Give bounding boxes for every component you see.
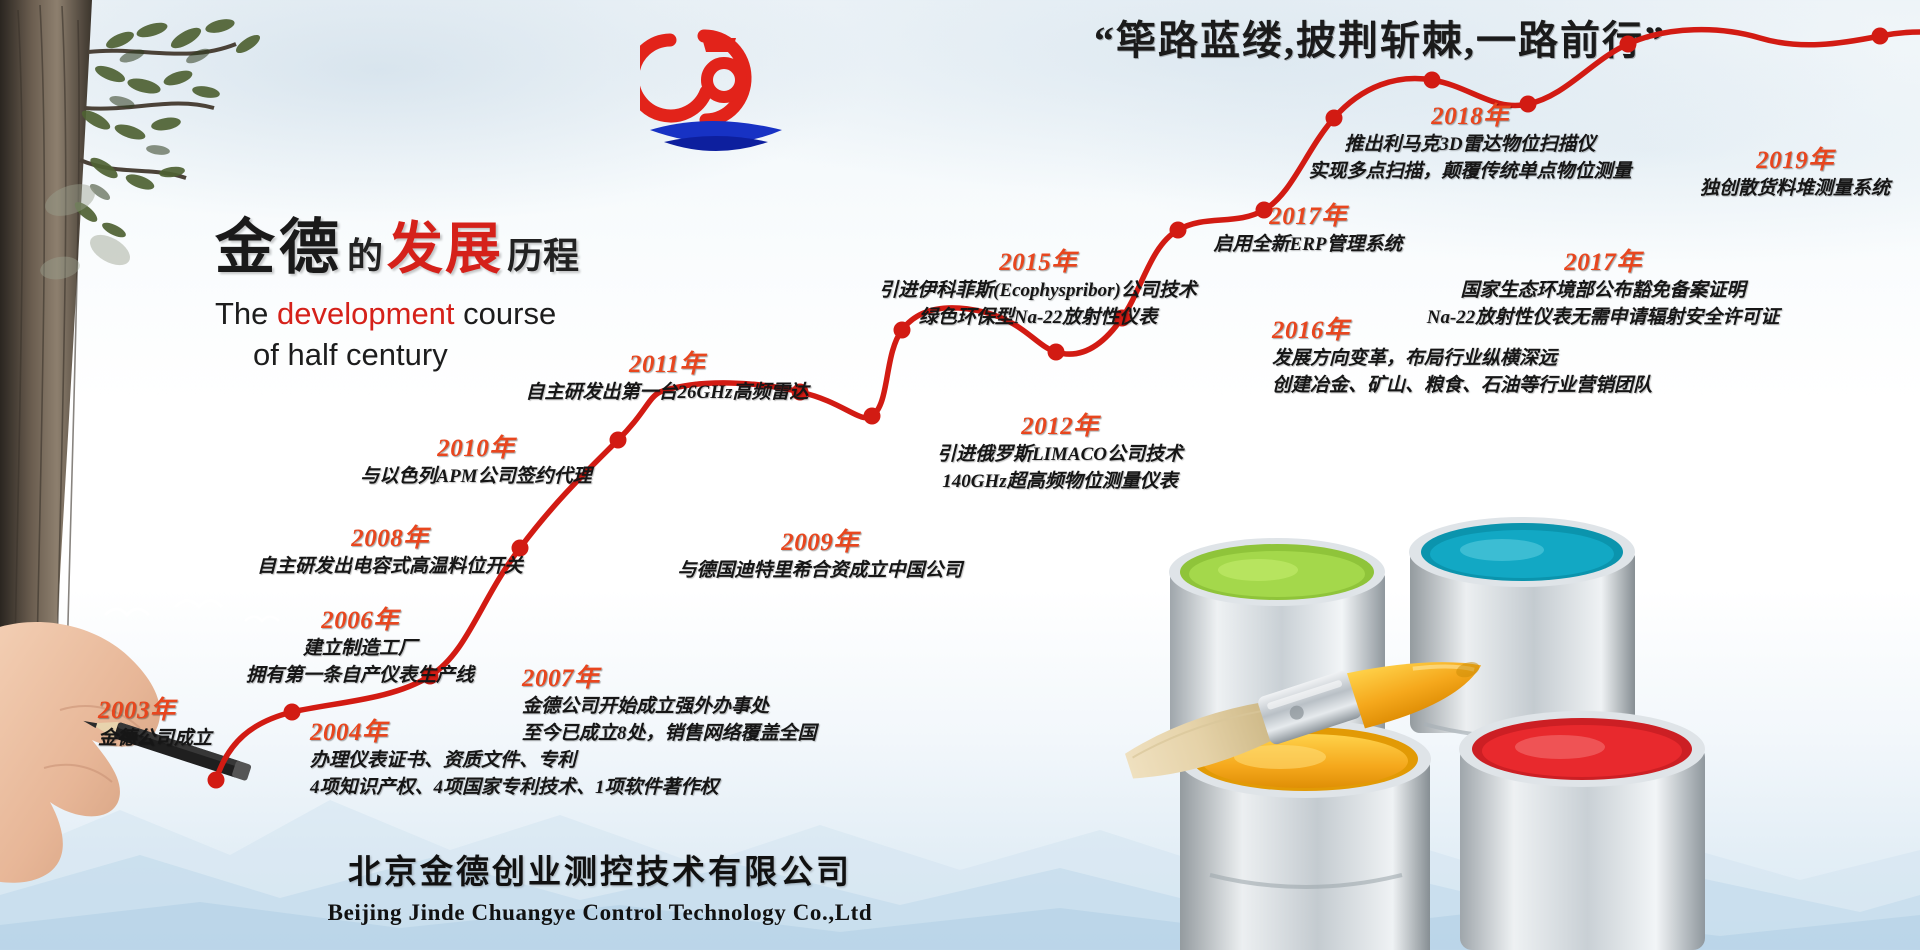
milestone-line: 引进伊科菲斯(Ecophyspribor)公司技术 [828,278,1248,305]
milestone-line: 至今已成立8处，销售网络覆盖全国 [522,721,817,748]
milestone-2011: 2011年 自主研发出第一台26GHz高频雷达 [462,344,872,407]
milestone-line: 实现多点扫描，颠覆传统单点物位测量 [1250,159,1690,186]
title-cn-de: 的 [343,236,387,276]
milestone-line: 绿色环保型Na-22放射性仪表 [828,305,1248,332]
milestone-line: 4项知识产权、4项国家专利技术、1项软件著作权 [310,775,719,802]
title-chinese: 金德的发展历程 [215,215,695,282]
milestone-year: 2018年 [1250,96,1690,132]
milestone-line: 拥有第一条自产仪表生产线 [180,663,540,690]
title-cn-development: 发展 [387,219,503,281]
milestone-year: 2006年 [180,600,540,636]
title-en-the: The [215,296,277,331]
milestone-2017-exemption: 2017年 国家生态环境部公布豁免备案证明 Na-22放射性仪表无需申请辐射安全… [1378,242,1828,332]
title-en-development: development [277,296,455,331]
milestone-line: 140GHz超高频物位测量仪表 [890,469,1230,496]
milestone-line: 国家生态环境部公布豁免备案证明 [1378,278,1828,305]
milestone-line: 引进俄罗斯LIMACO公司技术 [890,442,1230,469]
milestone-2012: 2012年 引进俄罗斯LIMACO公司技术 140GHz超高频物位测量仪表 [890,406,1230,496]
milestone-2006: 2006年 建立制造工厂 拥有第一条自产仪表生产线 [180,600,540,690]
milestone-year: 2019年 [1630,140,1920,176]
title-cn-course: 历程 [503,236,583,276]
milestone-line: 创建冶金、矿山、粮食、石油等行业营销团队 [1272,373,1652,400]
milestone-line: 与德国迪特里希合资成立中国公司 [620,558,1020,585]
milestone-year: 2017年 [1378,242,1828,278]
milestone-year: 2010年 [286,428,666,464]
milestone-year: 2003年 [98,690,212,726]
headline-slogan: “筚路蓝缕,披荆斩棘,一路前行” [960,8,1800,66]
milestone-line: 办理仪表证书、资质文件、专利 [310,748,719,775]
milestone-year: 2012年 [890,406,1230,442]
milestone-2018: 2018年 推出利马克3D雷达物位扫描仪 实现多点扫描，颠覆传统单点物位测量 [1250,96,1690,186]
milestone-line: 发展方向变革，布局行业纵横深远 [1272,346,1652,373]
title-en-course: course [455,296,557,331]
milestone-2003: 2003年 金德公司成立 [98,690,212,753]
milestone-2010: 2010年 与以色列APM公司签约代理 [286,428,666,491]
milestone-year: 2011年 [462,344,872,380]
company-name-en: Beijing Jinde Chuangye Control Technolog… [0,900,1200,926]
milestone-2008: 2008年 自主研发出电容式高温料位开关 [190,518,590,581]
milestone-year: 2008年 [190,518,590,554]
milestone-2009: 2009年 与德国迪特里希合资成立中国公司 [620,522,1020,585]
company-name-cn: 北京金德创业测控技术有限公司 [0,845,1200,893]
milestone-line: 与以色列APM公司签约代理 [286,464,666,491]
milestone-line: 独创散货料堆测量系统 [1630,176,1920,203]
paint-cans-illustration [1120,500,1920,950]
milestone-line: Na-22放射性仪表无需申请辐射安全许可证 [1378,305,1828,332]
milestone-line: 自主研发出第一台26GHz高频雷达 [462,380,872,407]
milestone-line: 推出利马克3D雷达物位扫描仪 [1250,132,1690,159]
milestone-2007: 2007年 金德公司开始成立强外办事处 至今已成立8处，销售网络覆盖全国 [522,658,817,748]
milestone-year: 2009年 [620,522,1020,558]
milestone-line: 金德公司成立 [98,726,212,753]
milestone-year: 2017年 [1128,196,1488,232]
milestone-line: 自主研发出电容式高温料位开关 [190,554,590,581]
company-logo [640,18,790,153]
milestone-line: 建立制造工厂 [180,636,540,663]
milestone-year: 2007年 [522,658,817,694]
title-cn-brand: 金德 [215,215,343,281]
milestone-2019: 2019年 独创散货料堆测量系统 [1630,140,1920,203]
milestone-line: 金德公司开始成立强外办事处 [522,694,817,721]
company-footer: 北京金德创业测控技术有限公司 Beijing Jinde Chuangye Co… [0,845,1200,926]
